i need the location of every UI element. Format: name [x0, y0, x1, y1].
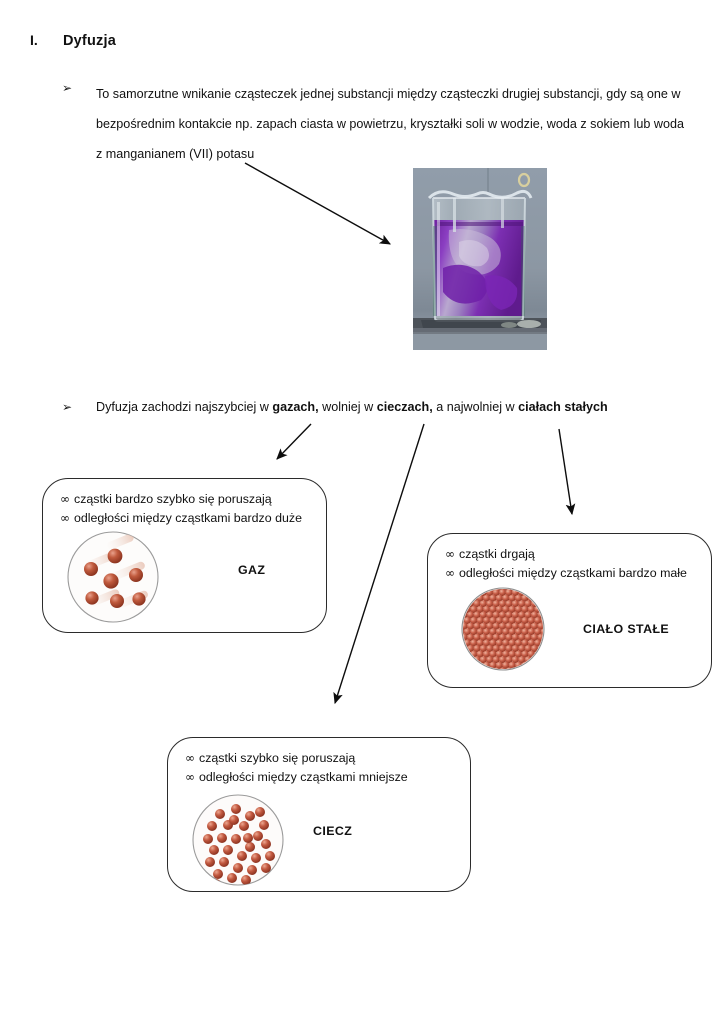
gas-particles-illustration [65, 529, 161, 630]
infinity-bullet-icon: ∞ [60, 511, 70, 525]
list-item: ∞odległości między cząstkami mniejsze [185, 768, 408, 787]
beaker-diffusion-photo [413, 168, 547, 350]
bullet-arrow-icon: ➢ [62, 398, 96, 413]
beaker-photo-graphic [413, 168, 547, 350]
arrow-to-gas [277, 424, 311, 459]
comparison-bold-liquids: cieczach, [377, 400, 433, 414]
infinity-bullet-icon: ∞ [445, 547, 455, 561]
state-box-gas: ∞cząstki bardzo szybko się poruszają ∞od… [42, 478, 327, 633]
comparison-bold-solids: ciałach stałych [518, 400, 608, 414]
comparison-part-1: Dyfuzja zachodzi najszybciej w [96, 400, 272, 414]
list-item: ∞odległości między cząstkami bardzo duże [60, 509, 302, 528]
state-box-solid: ∞cząstki drgają ∞odległości między cząst… [427, 533, 712, 688]
solid-property-1: cząstki drgają [459, 547, 535, 561]
liquid-particles-illustration [190, 792, 286, 893]
liquid-property-2: odległości między cząstkami mniejsze [199, 770, 408, 784]
infinity-bullet-icon: ∞ [185, 751, 195, 765]
arrow-to-photo [245, 163, 390, 244]
gas-properties: ∞cząstki bardzo szybko się poruszają ∞od… [60, 490, 302, 528]
arrow-to-liquid [335, 424, 424, 703]
bullet-arrow-icon: ➢ [62, 79, 96, 94]
section-title: Dyfuzja [63, 33, 116, 49]
list-item: ∞odległości między cząstkami bardzo małe [445, 564, 687, 583]
list-item: ∞cząstki szybko się poruszają [185, 749, 408, 768]
definition-text: To samorzutne wnikanie cząsteczek jednej… [96, 79, 686, 169]
arrow-to-solid [559, 429, 572, 514]
infinity-bullet-icon: ∞ [60, 492, 70, 506]
comparison-part-3: a najwolniej w [433, 400, 518, 414]
state-box-liquid: ∞cząstki szybko się poruszają ∞odległośc… [167, 737, 471, 892]
section-number: I. [30, 32, 63, 48]
solid-label: CIAŁO STAŁE [583, 622, 669, 636]
comparison-bold-gases: gazach, [272, 400, 318, 414]
solid-lattice-illustration [460, 586, 546, 677]
liquid-label: CIECZ [313, 824, 352, 838]
page-title: I. Dyfuzja [30, 32, 116, 49]
solid-properties: ∞cząstki drgają ∞odległości między cząst… [445, 545, 687, 583]
list-item: ∞cząstki drgają [445, 545, 687, 564]
gas-property-1: cząstki bardzo szybko się poruszają [74, 492, 272, 506]
infinity-bullet-icon: ∞ [445, 566, 455, 580]
comparison-part-2: wolniej w [319, 400, 377, 414]
document-page: I. Dyfuzja ➢ To samorzutne wnikanie cząs… [0, 0, 724, 1024]
gas-label: GAZ [238, 563, 265, 577]
liquid-properties: ∞cząstki szybko się poruszają ∞odległośc… [185, 749, 408, 787]
comparison-text: Dyfuzja zachodzi najszybciej w gazach, w… [96, 398, 608, 416]
infinity-bullet-icon: ∞ [185, 770, 195, 784]
definition-bullet: ➢ To samorzutne wnikanie cząsteczek jedn… [62, 79, 687, 169]
gas-property-2: odległości między cząstkami bardzo duże [74, 511, 302, 525]
liquid-property-1: cząstki szybko się poruszają [199, 751, 355, 765]
comparison-bullet: ➢ Dyfuzja zachodzi najszybciej w gazach,… [62, 398, 702, 416]
list-item: ∞cząstki bardzo szybko się poruszają [60, 490, 302, 509]
solid-property-2: odległości między cząstkami bardzo małe [459, 566, 687, 580]
